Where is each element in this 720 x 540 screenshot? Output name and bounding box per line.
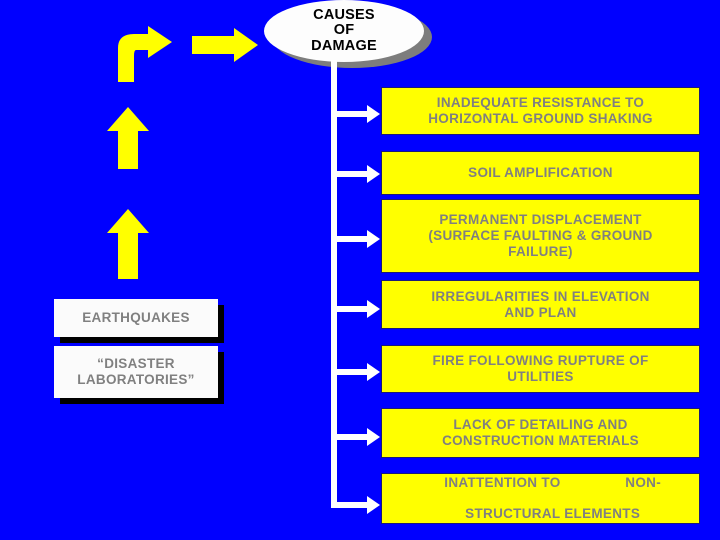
cause-line-5-2: UTILITIES <box>507 369 573 384</box>
connector-branch-7 <box>337 502 369 508</box>
cause-box-soil-amplification-label: SOIL AMPLIFICATION <box>382 165 699 181</box>
up-arrow-head-upper <box>107 107 149 131</box>
ellipse-line-3: DAMAGE <box>311 39 377 54</box>
cause-box-lack-of-detailing-label: LACK OF DETAILING AND CONSTRUCTION MATER… <box>382 417 699 449</box>
cause-line-3-3: FAILURE) <box>508 244 573 259</box>
cause-line-3-1: PERMANENT DISPLACEMENT <box>439 212 641 227</box>
right-arrow-icon <box>192 28 258 62</box>
connector-arrowhead-7 <box>367 496 380 514</box>
cause-line-2-1: SOIL AMPLIFICATION <box>468 165 613 180</box>
connector-branch-2 <box>337 171 369 177</box>
cause-line-7-2: STRUCTURAL ELEMENTS <box>465 506 640 521</box>
ellipse-line-1: CAUSES <box>313 8 375 23</box>
cause-line-5-1: FIRE FOLLOWING RUPTURE OF <box>433 353 649 368</box>
connector-arrowhead-5 <box>367 363 380 381</box>
up-arrow-icon-lower <box>107 209 149 279</box>
cause-box-permanent-displacement-label: PERMANENT DISPLACEMENT (SURFACE FAULTING… <box>382 212 699 260</box>
source-box-disaster-laboratories[interactable]: “DISASTER LABORATORIES” <box>54 346 218 398</box>
connector-branch-3 <box>337 236 369 242</box>
source-box-earthquakes[interactable]: EARTHQUAKES <box>54 299 218 337</box>
cause-line-4-1: IRREGULARITIES IN ELEVATION <box>431 289 649 304</box>
cause-line-6-1: LACK OF DETAILING AND <box>453 417 627 432</box>
source-box-earthquakes-label: EARTHQUAKES <box>76 310 196 326</box>
cause-box-fire-following-rupture[interactable]: FIRE FOLLOWING RUPTURE OF UTILITIES <box>381 345 700 393</box>
curved-arrow-icon <box>112 26 176 82</box>
connector-arrowhead-6 <box>367 428 380 446</box>
right-arrow-head <box>234 28 258 62</box>
cause-box-irregularities-label: IRREGULARITIES IN ELEVATION AND PLAN <box>382 289 699 321</box>
cause-line-6-2: CONSTRUCTION MATERIALS <box>442 433 639 448</box>
connector-branch-6 <box>337 434 369 440</box>
cause-line-1-1: INADEQUATE RESISTANCE TO <box>437 95 644 110</box>
connector-arrowhead-1 <box>367 105 380 123</box>
ellipse-line-2: OF <box>334 23 355 38</box>
connector-arrowhead-4 <box>367 300 380 318</box>
cause-box-irregularities[interactable]: IRREGULARITIES IN ELEVATION AND PLAN <box>381 280 700 329</box>
slide-canvas: CAUSES OF DAMAGE EARTHQUAKES “DISASTER L… <box>0 0 720 540</box>
cause-box-soil-amplification[interactable]: SOIL AMPLIFICATION <box>381 151 700 195</box>
connector-trunk <box>331 60 337 508</box>
source-box-disaster-line-2: LABORATORIES” <box>77 372 194 388</box>
cause-box-inattention-nonstructural[interactable]: INATTENTION TO NON- STRUCTURAL ELEMENTS <box>381 473 700 524</box>
curved-arrow-svg <box>112 26 176 82</box>
causes-of-damage-ellipse[interactable]: CAUSES OF DAMAGE <box>264 0 424 62</box>
source-box-disaster-line-1: “DISASTER <box>97 356 175 372</box>
connector-branch-4 <box>337 306 369 312</box>
connector-arrowhead-2 <box>367 165 380 183</box>
cause-line-3-2: (SURFACE FAULTING & GROUND <box>428 228 652 243</box>
connector-branch-5 <box>337 369 369 375</box>
up-arrow-shaft-lower <box>118 231 138 279</box>
cause-box-fire-following-rupture-label: FIRE FOLLOWING RUPTURE OF UTILITIES <box>382 353 699 385</box>
cause-line-1-2: HORIZONTAL GROUND SHAKING <box>428 111 653 126</box>
cause-box-lack-of-detailing[interactable]: LACK OF DETAILING AND CONSTRUCTION MATER… <box>381 408 700 458</box>
cause-line-7-1: INATTENTION TO NON- <box>444 475 661 490</box>
connector-branch-1 <box>337 111 369 117</box>
up-arrow-icon-upper <box>107 107 149 169</box>
cause-box-permanent-displacement[interactable]: PERMANENT DISPLACEMENT (SURFACE FAULTING… <box>381 199 700 273</box>
connector-arrowhead-3 <box>367 230 380 248</box>
cause-box-inadequate-resistance[interactable]: INADEQUATE RESISTANCE TO HORIZONTAL GROU… <box>381 87 700 135</box>
cause-line-4-2: AND PLAN <box>504 305 576 320</box>
up-arrow-shaft-upper <box>118 129 138 169</box>
up-arrow-head-lower <box>107 209 149 233</box>
right-arrow-shaft <box>192 36 236 54</box>
cause-box-inattention-nonstructural-label: INATTENTION TO NON- STRUCTURAL ELEMENTS <box>382 459 699 539</box>
cause-box-inadequate-resistance-label: INADEQUATE RESISTANCE TO HORIZONTAL GROU… <box>382 95 699 127</box>
